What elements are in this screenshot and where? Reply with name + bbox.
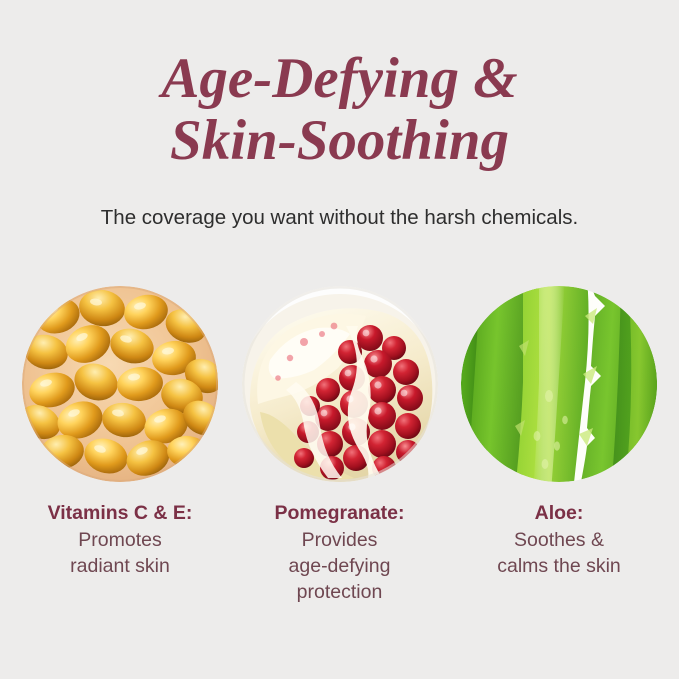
caption-body: Provides age-defying protection — [232, 527, 447, 605]
promo-banner: Age-Defying & Skin-Soothing The coverage… — [0, 0, 679, 679]
caption-vitamins: Vitamins C & E: Promotes radiant skin — [13, 501, 228, 579]
ingredient-columns: Vitamins C & E: Promotes radiant skin — [0, 286, 679, 605]
caption-body: Soothes & calms the skin — [452, 527, 667, 579]
page-title: Age-Defying & Skin-Soothing — [0, 48, 679, 172]
ingredient-column-aloe: Aloe: Soothes & calms the skin — [461, 286, 657, 605]
caption-pomegranate: Pomegranate: Provides age-defying protec… — [232, 501, 447, 605]
headline-line-2: Skin-Soothing — [0, 110, 679, 172]
caption-body: Promotes radiant skin — [13, 527, 228, 579]
caption-body-line: Provides — [232, 527, 447, 553]
caption-label: Aloe: — [452, 501, 667, 526]
caption-body-line: radiant skin — [13, 553, 228, 579]
pomegranate-image — [242, 286, 438, 482]
caption-label: Vitamins C & E: — [13, 501, 228, 526]
caption-body-line: protection — [232, 579, 447, 605]
caption-body-line: age-defying — [232, 553, 447, 579]
aloe-image — [461, 286, 657, 482]
caption-body-line: Soothes & — [452, 527, 667, 553]
caption-body-line: Promotes — [13, 527, 228, 553]
caption-body-line: calms the skin — [452, 553, 667, 579]
vitamin-capsules-image — [22, 286, 218, 482]
ingredient-column-vitamins: Vitamins C & E: Promotes radiant skin — [22, 286, 218, 605]
headline-line-1: Age-Defying & — [0, 48, 679, 110]
subheadline: The coverage you want without the harsh … — [0, 205, 679, 231]
caption-label: Pomegranate: — [232, 501, 447, 526]
caption-aloe: Aloe: Soothes & calms the skin — [452, 501, 667, 579]
ingredient-column-pomegranate: Pomegranate: Provides age-defying protec… — [242, 286, 438, 605]
